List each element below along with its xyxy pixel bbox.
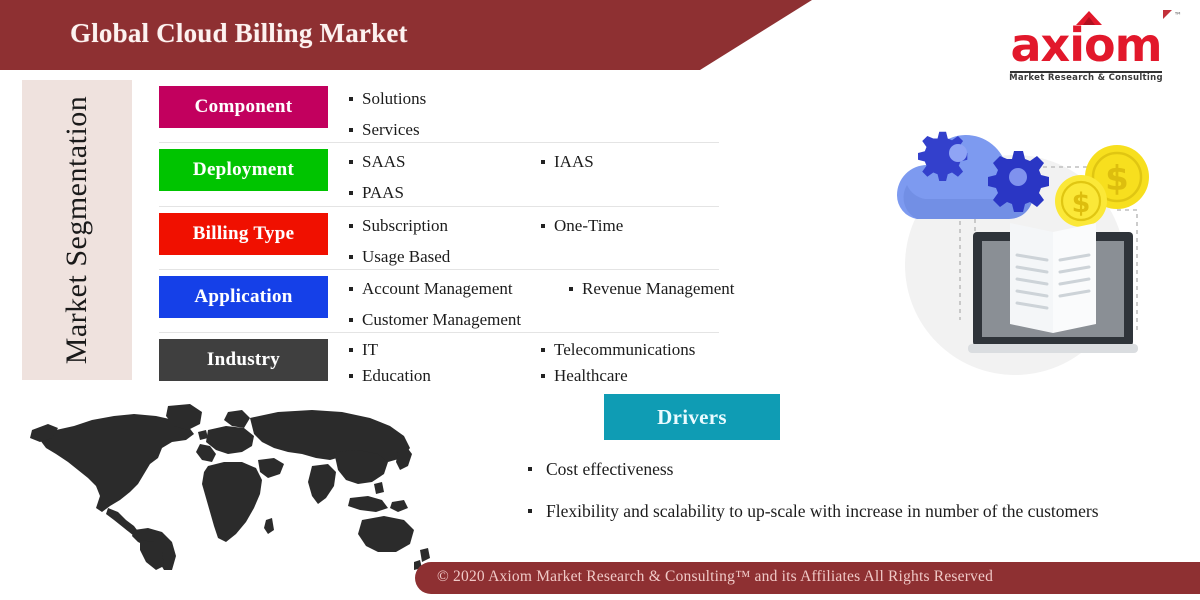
segment-item: Revenue Management <box>569 278 734 300</box>
segment-item-label: IAAS <box>554 152 594 171</box>
bullet-icon <box>541 348 545 352</box>
segment-item-label: Telecommunications <box>554 340 695 359</box>
driver-item-label: Cost effectiveness <box>546 459 674 479</box>
trademark-symbol: ™ <box>1174 11 1182 20</box>
segmentation-row: ComponentSolutionsServices <box>159 80 719 143</box>
device-icon <box>968 223 1138 353</box>
segment-item: One-Time <box>541 215 623 237</box>
segment-category-component[interactable]: Component <box>159 86 328 128</box>
market-segmentation-panel: Market Segmentation <box>22 80 132 380</box>
segment-category-industry[interactable]: Industry <box>159 339 328 381</box>
segment-item-label: PAAS <box>362 183 404 202</box>
segment-item-label: Subscription <box>362 216 448 235</box>
coin-icon-front: $ <box>1055 175 1107 227</box>
page-title: Global Cloud Billing Market <box>70 18 408 49</box>
svg-text:$: $ <box>1105 159 1129 199</box>
segment-item-label: Healthcare <box>554 366 628 385</box>
trademark-flag-icon <box>1163 10 1172 19</box>
segment-item: Services <box>349 119 420 141</box>
gear-icon-small <box>988 151 1049 212</box>
bullet-icon <box>528 467 532 471</box>
segment-item-label: Education <box>362 366 431 385</box>
bullet-icon <box>349 287 353 291</box>
bullet-icon <box>528 509 532 513</box>
segment-item: Account Management <box>349 278 513 300</box>
segment-items: Account ManagementRevenue ManagementCust… <box>349 272 717 334</box>
drivers-list: Cost effectivenessFlexibility and scalab… <box>520 456 1180 540</box>
driver-item: Flexibility and scalability to up-scale … <box>520 498 1180 524</box>
segment-item: IAAS <box>541 151 594 173</box>
segment-item-label: One-Time <box>554 216 623 235</box>
world-map-silhouette <box>22 400 442 570</box>
segment-items: SolutionsServices <box>349 82 717 144</box>
segment-category-billing-type[interactable]: Billing Type <box>159 213 328 255</box>
segmentation-table: ComponentSolutionsServicesDeploymentSAAS… <box>159 80 719 382</box>
segment-item-label: IT <box>362 340 378 359</box>
segment-item: Healthcare <box>541 365 628 387</box>
segment-items: ITTelecommunicationsEducationHealthcare <box>349 335 717 384</box>
segment-items: SAASIAASPAAS <box>349 145 717 208</box>
segment-item-label: Revenue Management <box>582 279 734 298</box>
segment-items: SubscriptionOne-TimeUsage Based <box>349 209 717 271</box>
driver-item-label: Flexibility and scalability to up-scale … <box>546 501 1099 521</box>
gear-icon-large <box>918 132 967 181</box>
segment-item: Solutions <box>349 88 426 110</box>
bullet-icon <box>541 374 545 378</box>
bullet-icon <box>541 224 545 228</box>
segment-item: PAAS <box>349 182 404 204</box>
segment-item: Telecommunications <box>541 339 695 361</box>
axiom-logo: axiom Market Research & Consulting ™ <box>988 5 1184 91</box>
segment-item: IT <box>349 339 378 361</box>
copyright-text: © 2020 Axiom Market Research & Consultin… <box>437 568 993 586</box>
bullet-icon <box>349 348 353 352</box>
segment-item-label: Account Management <box>362 279 513 298</box>
bullet-icon <box>349 224 353 228</box>
segment-item: Subscription <box>349 215 448 237</box>
bullet-icon <box>569 287 573 291</box>
segmentation-row: DeploymentSAASIAASPAAS <box>159 143 719 207</box>
svg-text:$: $ <box>1072 188 1091 219</box>
logo-wordmark: axiom <box>988 21 1184 69</box>
bullet-icon <box>349 160 353 164</box>
cloud-billing-illustration: $ $ <box>855 105 1155 385</box>
segmentation-row: Billing TypeSubscriptionOne-TimeUsage Ba… <box>159 207 719 270</box>
driver-item: Cost effectiveness <box>520 456 1180 482</box>
bullet-icon <box>349 255 353 259</box>
segment-item: Usage Based <box>349 246 450 268</box>
logo-tagline: Market Research & Consulting <box>988 73 1184 83</box>
bullet-icon <box>541 160 545 164</box>
segment-item: Customer Management <box>349 309 521 331</box>
drivers-heading: Drivers <box>604 394 780 440</box>
segment-item-label: Services <box>362 120 420 139</box>
bullet-icon <box>349 128 353 132</box>
segmentation-row: ApplicationAccount ManagementRevenue Man… <box>159 270 719 333</box>
segment-item: SAAS <box>349 151 405 173</box>
segment-item-label: Solutions <box>362 89 426 108</box>
bullet-icon <box>349 97 353 101</box>
bullet-icon <box>349 374 353 378</box>
segmentation-row: IndustryITTelecommunicationsEducationHea… <box>159 333 719 382</box>
segment-category-application[interactable]: Application <box>159 276 328 318</box>
bullet-icon <box>349 318 353 322</box>
segment-item-label: Usage Based <box>362 247 450 266</box>
segment-item: Education <box>349 365 431 387</box>
segment-category-deployment[interactable]: Deployment <box>159 149 328 191</box>
market-segmentation-label: Market Segmentation <box>60 96 94 365</box>
footer-band: © 2020 Axiom Market Research & Consultin… <box>415 562 1200 594</box>
segment-item-label: SAAS <box>362 152 405 171</box>
bullet-icon <box>349 191 353 195</box>
segment-item-label: Customer Management <box>362 310 521 329</box>
